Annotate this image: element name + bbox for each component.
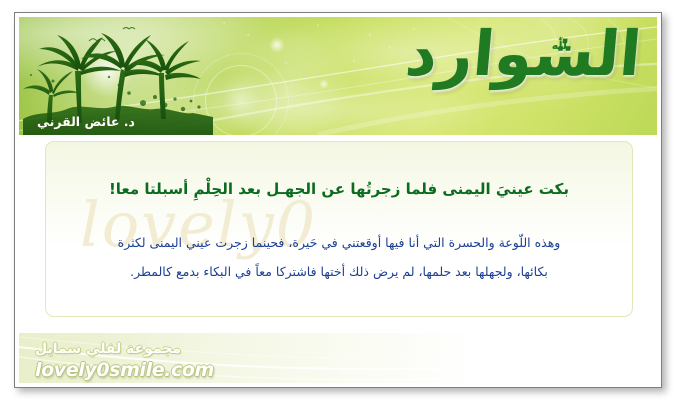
lens-flare-icon	[81, 45, 133, 97]
lens-flare-ring-icon	[205, 65, 277, 135]
brand-block[interactable]: مجموعة لفلي سمايل lovely0smile.com	[35, 341, 295, 380]
image-card-frame: الشوارد للّٰه د. عائض القرني lovely0 بكت…	[14, 12, 662, 388]
footer-bar: مجموعة لفلي سمايل lovely0smile.com	[19, 333, 657, 383]
image-card-inner: الشوارد للّٰه د. عائض القرني lovely0 بكت…	[19, 17, 657, 383]
content-area: lovely0 بكت عينيَ اليمنى فلما زجرتُها عن…	[19, 135, 657, 333]
header-banner: الشوارد للّٰه د. عائض القرني	[19, 17, 657, 135]
lens-flare-outer-ring-icon	[193, 53, 289, 135]
banner-title-tashkeel: للّٰه	[552, 39, 567, 52]
poem-verse: بكت عينيَ اليمنى فلما زجرتُها عن الجهـل …	[46, 180, 632, 198]
author-name: د. عائض القرني	[37, 114, 135, 129]
brand-website[interactable]: lovely0smile.com	[35, 360, 295, 381]
brand-name-arabic: مجموعة لفلي سمايل	[35, 341, 295, 359]
poem-hemistich-2: عن الجهـل بعد الحِلْمِ أسبلتا معا!	[109, 180, 345, 198]
paragraph-line-1: وهذه اللّوعة والحسرة التي أنا فيها أوقعت…	[72, 228, 606, 257]
lens-flare-small-dot-icon	[319, 79, 329, 89]
banner-title-text: الشوارد	[448, 23, 643, 85]
explanation-paragraph: وهذه اللّوعة والحسرة التي أنا فيها أوقعت…	[72, 228, 606, 287]
banner-title-calligraphy: الشوارد للّٰه	[451, 23, 641, 127]
poem-hemistich-1: بكت عينيَ اليمنى فلما زجرتُها	[350, 180, 569, 198]
quote-box: lovely0 بكت عينيَ اليمنى فلما زجرتُها عن…	[45, 141, 633, 317]
paragraph-line-2: بكائها، ولجهلها بعد حلمها، لم يرض ذلك أخ…	[72, 257, 606, 286]
lens-flare-dot-icon	[269, 37, 285, 53]
